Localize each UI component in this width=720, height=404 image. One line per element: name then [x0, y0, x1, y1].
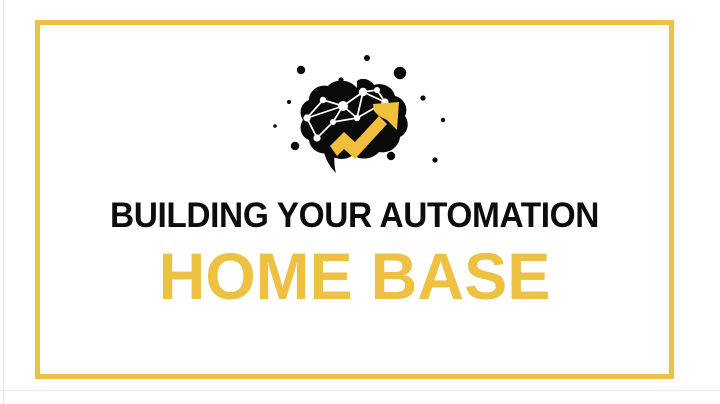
- brain-network-growth-icon: [245, 48, 465, 176]
- slide-title: HOME BASE: [41, 240, 667, 312]
- slide-subtitle: BUILDING YOUR AUTOMATION: [49, 196, 659, 236]
- canvas-edge-left: [3, 0, 4, 404]
- headline-block: BUILDING YOUR AUTOMATION HOME BASE: [35, 196, 674, 312]
- canvas-edge-bottom: [0, 390, 720, 391]
- slide-canvas: BUILDING YOUR AUTOMATION HOME BASE: [0, 0, 720, 404]
- slide-content: BUILDING YOUR AUTOMATION HOME BASE: [35, 20, 674, 379]
